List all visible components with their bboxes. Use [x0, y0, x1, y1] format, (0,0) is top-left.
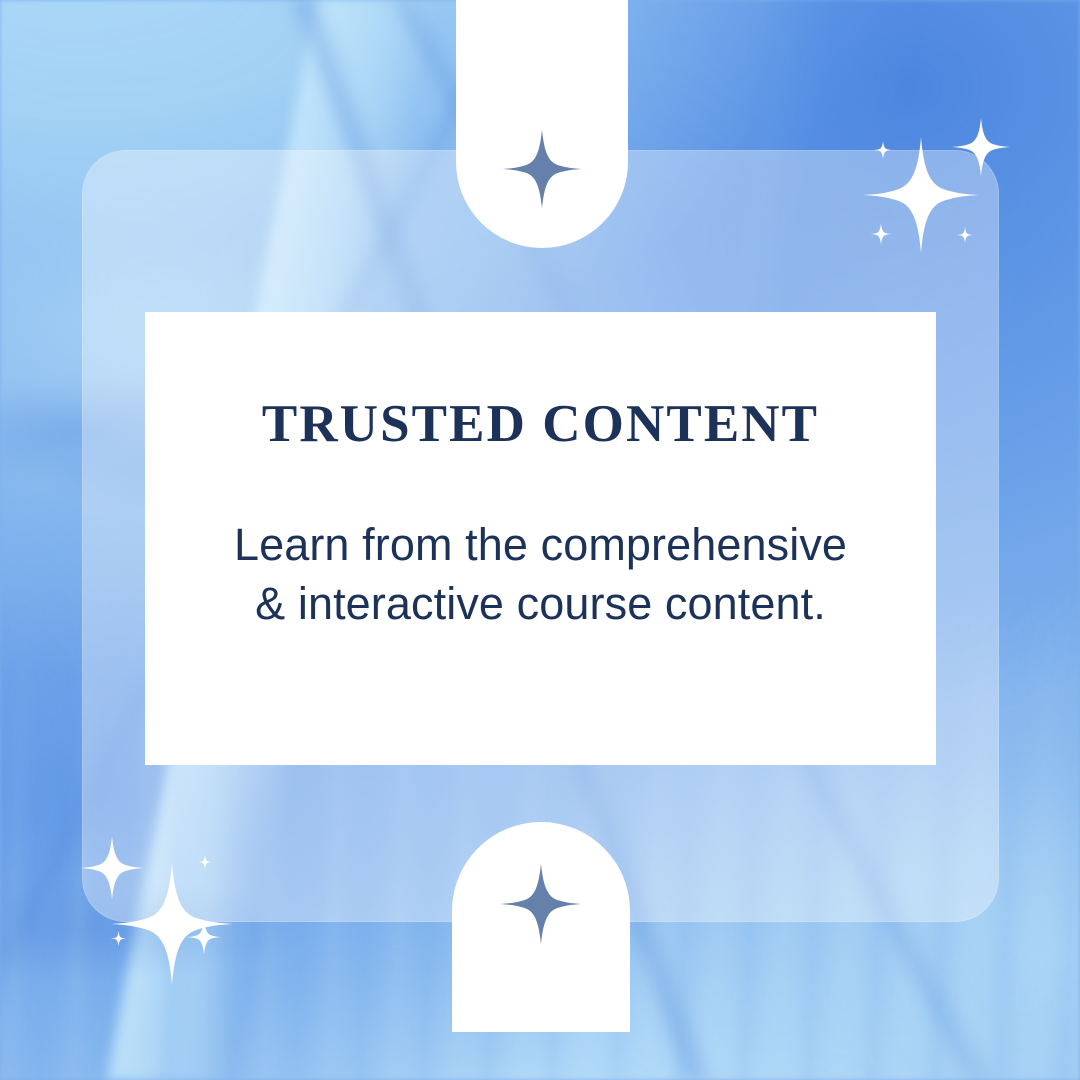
subtitle-line-2: & interactive course content. [255, 578, 826, 629]
four-point-sparkle-icon [197, 854, 213, 870]
four-point-sparkle-icon [869, 222, 893, 246]
subtitle-line-1: Learn from the comprehensive [234, 519, 847, 570]
four-point-sparkle-icon [110, 930, 127, 947]
four-point-sparkle-icon [950, 116, 1012, 178]
four-point-sparkle-icon [499, 862, 583, 946]
four-point-sparkle-icon [501, 128, 583, 210]
shield-arch-shape [456, 0, 628, 248]
subtitle-text: Learn from the comprehensive & interacti… [191, 452, 890, 633]
four-point-sparkle-icon [873, 140, 893, 160]
content-text-box: TRUSTED CONTENT Learn from the comprehen… [145, 312, 936, 765]
social-post-canvas: TRUSTED CONTENT Learn from the comprehen… [0, 0, 1080, 1080]
page-title: TRUSTED CONTENT [191, 396, 890, 452]
four-point-sparkle-icon [956, 226, 974, 244]
four-point-sparkle-icon [78, 834, 146, 902]
four-point-sparkle-icon [185, 918, 223, 956]
